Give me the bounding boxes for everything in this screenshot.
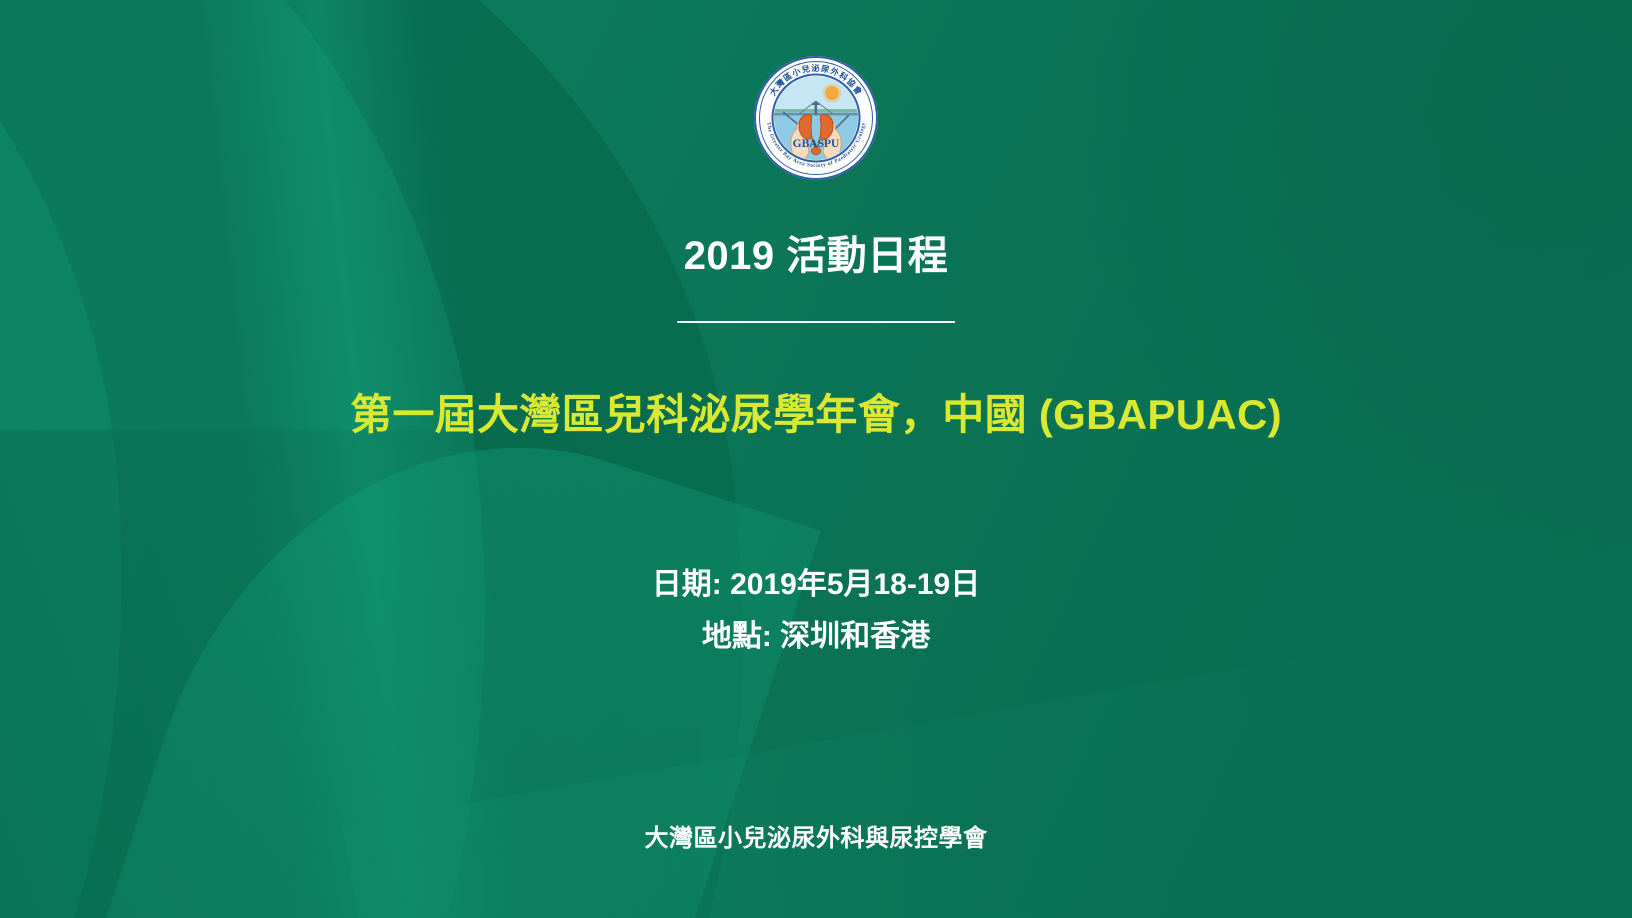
title-divider: [677, 321, 955, 323]
slide-heading-block: 2019 活動日程: [0, 236, 1632, 323]
logo-acronym-text: GBASPU: [793, 138, 840, 150]
page-title: 2019 活動日程: [684, 236, 949, 276]
presentation-slide: GBASPU 大灣區小兒泌尿外科協會 The Greater Bay Area …: [0, 0, 1632, 918]
slide-content: GBASPU 大灣區小兒泌尿外科協會 The Greater Bay Area …: [0, 0, 1632, 918]
organization-footer: 大灣區小兒泌尿外科與尿控學會: [0, 818, 1632, 853]
gbaspu-society-logo-icon: GBASPU 大灣區小兒泌尿外科協會 The Greater Bay Area …: [753, 55, 879, 181]
event-date: 日期: 2019年5月18-19日: [0, 570, 1632, 600]
event-details-block: 日期: 2019年5月18-19日 地點: 深圳和香港: [0, 570, 1632, 652]
event-venue: 地點: 深圳和香港: [0, 622, 1632, 652]
conference-title: 第一屆大灣區兒科泌尿學年會，中國 (GBAPUAC): [0, 392, 1632, 438]
